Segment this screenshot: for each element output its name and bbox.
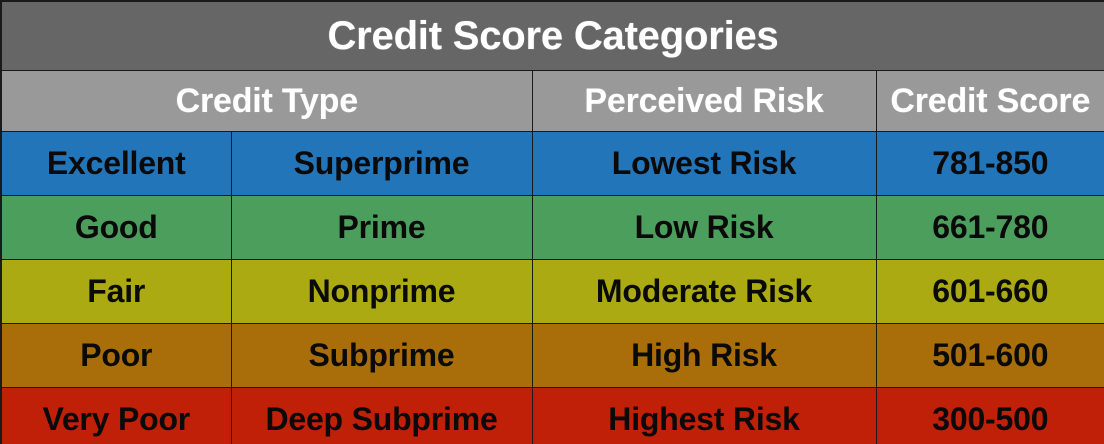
cell-tier: Prime (231, 196, 532, 260)
cell-rating: Poor (1, 324, 231, 388)
cell-credit-score: 300-500 (876, 388, 1104, 444)
cell-credit-score: 601-660 (876, 260, 1104, 324)
table-title: Credit Score Categories (1, 1, 1104, 71)
cell-credit-score: 781-850 (876, 132, 1104, 196)
header-row: Credit Type Perceived Risk Credit Score (1, 71, 1104, 132)
cell-rating: Excellent (1, 132, 231, 196)
table-row: Excellent Superprime Lowest Risk 781-850 (1, 132, 1104, 196)
table-row: Fair Nonprime Moderate Risk 601-660 (1, 260, 1104, 324)
credit-score-table-container: Credit Score Categories Credit Type Perc… (0, 0, 1104, 444)
cell-rating: Good (1, 196, 231, 260)
cell-perceived-risk: High Risk (532, 324, 876, 388)
cell-rating: Fair (1, 260, 231, 324)
cell-perceived-risk: Low Risk (532, 196, 876, 260)
cell-tier: Superprime (231, 132, 532, 196)
table-row: Good Prime Low Risk 661-780 (1, 196, 1104, 260)
cell-perceived-risk: Highest Risk (532, 388, 876, 444)
table-row: Poor Subprime High Risk 501-600 (1, 324, 1104, 388)
column-header-credit-type: Credit Type (1, 71, 532, 132)
title-row: Credit Score Categories (1, 1, 1104, 71)
table-row: Very Poor Deep Subprime Highest Risk 300… (1, 388, 1104, 444)
cell-tier: Deep Subprime (231, 388, 532, 444)
credit-score-categories-table: Credit Score Categories Credit Type Perc… (0, 0, 1104, 444)
cell-perceived-risk: Lowest Risk (532, 132, 876, 196)
cell-credit-score: 501-600 (876, 324, 1104, 388)
cell-tier: Subprime (231, 324, 532, 388)
cell-rating: Very Poor (1, 388, 231, 444)
column-header-perceived-risk: Perceived Risk (532, 71, 876, 132)
cell-perceived-risk: Moderate Risk (532, 260, 876, 324)
cell-tier: Nonprime (231, 260, 532, 324)
column-header-credit-score: Credit Score (876, 71, 1104, 132)
cell-credit-score: 661-780 (876, 196, 1104, 260)
